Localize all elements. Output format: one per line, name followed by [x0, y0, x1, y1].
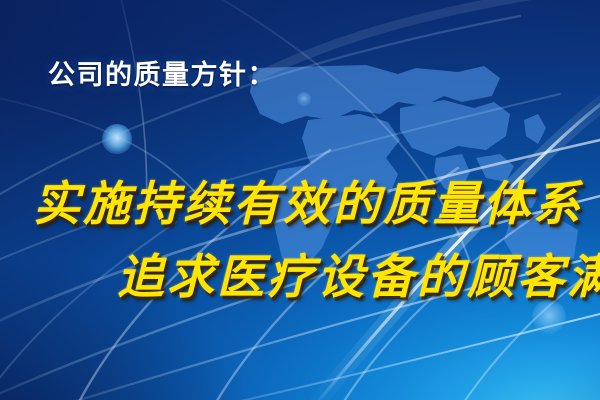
glow-node-small-icon	[297, 92, 311, 106]
glow-node-left-icon	[102, 124, 132, 154]
quality-policy-slide: 公司的质量方针： 实施持续有效的质量体系 追求医疗设备的顾客满意	[0, 0, 600, 400]
policy-line-1: 实施持续有效的质量体系	[33, 165, 583, 234]
policy-line-2: 追求医疗设备的顾客满意	[117, 238, 600, 307]
page-title: 公司的质量方针：	[48, 53, 276, 92]
